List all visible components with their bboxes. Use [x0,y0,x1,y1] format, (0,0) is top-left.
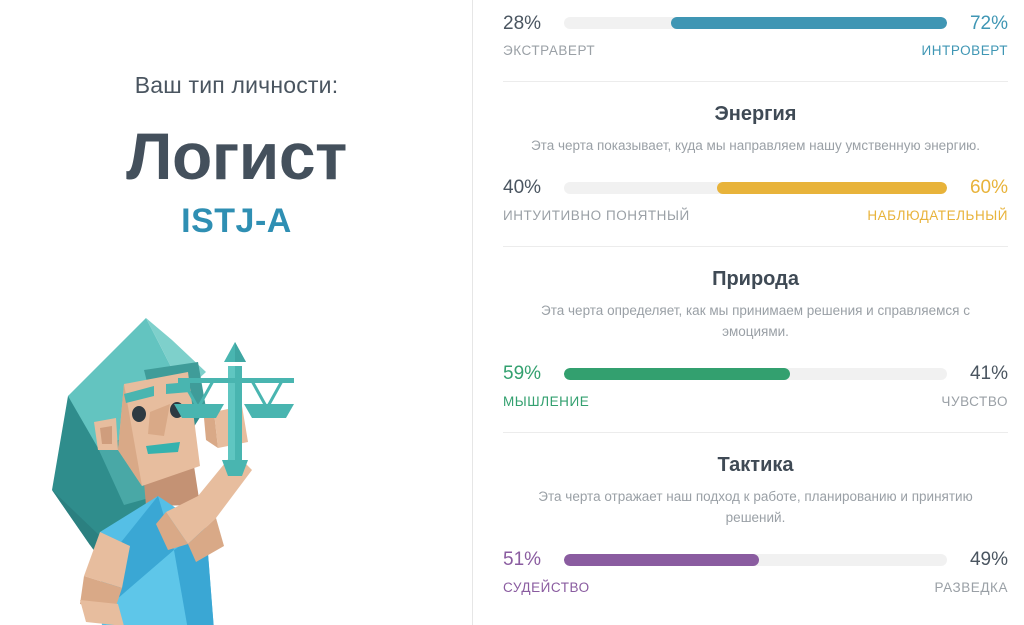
personality-code: ISTJ-A [0,203,473,240]
trait-block-energy: ЭнергияЭта черта показывает, куда мы нап… [503,102,1008,247]
trait-meter-wrap-energy: 40%60%ИНТУИТИВНО ПОНЯТНЫЙНАБЛЮДАТЕЛЬНЫЙ [503,173,1008,223]
traits-panel: 28%72%ЭКСТРАВЕРТИНТРОВЕРТЭнергияЭта черт… [473,0,1024,625]
trait-poles-mind: ЭКСТРАВЕРТИНТРОВЕРТ [503,43,1008,58]
trait-title-energy: Энергия [503,102,1008,126]
top-spacer [503,0,1008,8]
trait-description-tactics: Эта черта отражает наш подход к работе, … [521,487,991,529]
trait-description-nature: Эта черта определяет, как мы принимаем р… [521,301,991,343]
personality-summary-panel: Ваш тип личности: Логист ISTJ-A [0,0,473,625]
trait-left-percent-nature: 59% [503,364,555,383]
trait-left-pole-mind: ЭКСТРАВЕРТ [503,43,595,58]
trait-poles-nature: МЫШЛЕНИЕЧУВСТВО [503,394,1008,409]
page-title: Логист [0,122,473,191]
trait-header-tactics: ТактикаЭта черта отражает наш подход к р… [503,453,1008,529]
trait-right-pole-mind: ИНТРОВЕРТ [921,43,1008,58]
traits-list: 28%72%ЭКСТРАВЕРТИНТРОВЕРТЭнергияЭта черт… [503,0,1008,595]
personality-result-page: Ваш тип личности: Логист ISTJ-A [0,0,1024,625]
trait-right-percent-nature: 41% [956,364,1008,383]
trait-meter-nature[interactable]: 59%41% [503,359,1008,389]
trait-block-nature: ПриродаЭта черта определяет, как мы прин… [503,267,1008,433]
trait-header-energy: ЭнергияЭта черта показывает, куда мы нап… [503,102,1008,157]
trait-left-pole-tactics: СУДЕЙСТВО [503,580,590,595]
trait-block-tactics: ТактикаЭта черта отражает наш подход к р… [503,453,1008,595]
trait-divider-nature [503,432,1008,433]
trait-meter-energy[interactable]: 40%60% [503,173,1008,203]
trait-meter-mind[interactable]: 28%72% [503,8,1008,38]
trait-right-percent-mind: 72% [956,14,1008,33]
trait-right-percent-energy: 60% [956,178,1008,197]
trait-right-pole-energy: НАБЛЮДАТЕЛЬНЫЙ [867,208,1008,223]
trait-meter-wrap-mind: 28%72%ЭКСТРАВЕРТИНТРОВЕРТ [503,8,1008,58]
trait-meter-wrap-nature: 59%41%МЫШЛЕНИЕЧУВСТВО [503,359,1008,409]
trait-track-mind[interactable] [564,17,947,29]
trait-meter-wrap-tactics: 51%49%СУДЕЙСТВОРАЗВЕДКА [503,545,1008,595]
trait-right-percent-tactics: 49% [956,550,1008,569]
trait-fill-tactics [564,554,759,566]
trait-track-tactics[interactable] [564,554,947,566]
trait-poles-energy: ИНТУИТИВНО ПОНЯТНЫЙНАБЛЮДАТЕЛЬНЫЙ [503,208,1008,223]
trait-fill-energy [717,182,947,194]
trait-title-nature: Природа [503,267,1008,291]
trait-description-energy: Эта черта показывает, куда мы направляем… [521,136,991,157]
trait-meter-tactics[interactable]: 51%49% [503,545,1008,575]
trait-fill-nature [564,368,790,380]
logistician-character-illustration [38,300,338,625]
trait-right-pole-tactics: РАЗВЕДКА [934,580,1008,595]
trait-track-nature[interactable] [564,368,947,380]
trait-header-nature: ПриродаЭта черта определяет, как мы прин… [503,267,1008,343]
trait-left-percent-mind: 28% [503,14,555,33]
trait-track-energy[interactable] [564,182,947,194]
trait-left-pole-energy: ИНТУИТИВНО ПОНЯТНЫЙ [503,208,690,223]
page-kicker: Ваш тип личности: [0,72,473,100]
trait-divider-energy [503,246,1008,247]
trait-poles-tactics: СУДЕЙСТВОРАЗВЕДКА [503,580,1008,595]
trait-left-percent-energy: 40% [503,178,555,197]
trait-left-pole-nature: МЫШЛЕНИЕ [503,394,589,409]
trait-fill-mind [671,17,947,29]
trait-title-tactics: Тактика [503,453,1008,477]
trait-left-percent-tactics: 51% [503,550,555,569]
trait-divider-mind [503,81,1008,82]
trait-block-mind: 28%72%ЭКСТРАВЕРТИНТРОВЕРТ [503,0,1008,82]
trait-right-pole-nature: ЧУВСТВО [941,394,1008,409]
